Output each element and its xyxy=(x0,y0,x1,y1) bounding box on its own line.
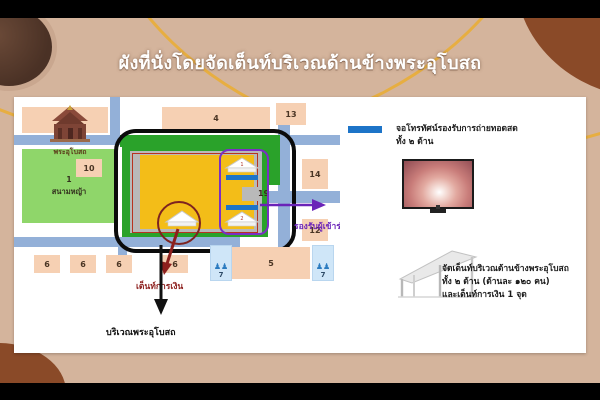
ubosot-building-icon xyxy=(38,105,102,145)
ubosot-area-annotation: บริเวณพระอุโบสถ xyxy=(106,325,176,339)
toilet-figures-icon: ♟♟ xyxy=(316,263,330,271)
tv-stand-base-icon xyxy=(430,209,446,213)
legend-item-tv: จอโทรทัศน์รองรับการถ่ายทอดสด ทั้ง ๒ ด้าน xyxy=(348,123,584,149)
map-lawn-label: สนามหญ้า xyxy=(22,187,116,196)
attendee-support-arrow xyxy=(260,195,332,215)
tv-screen-icon xyxy=(402,159,474,209)
map-building-13: 13 xyxy=(276,103,306,125)
content-card: กุฏิ 4 13 14 12 1 ส xyxy=(14,97,586,353)
legend-tv-line-1: จอโทรทัศน์รองรับการถ่ายทอดสด xyxy=(396,123,518,136)
map-toilet-right-number: 7 xyxy=(321,271,326,279)
map-building-14: 14 xyxy=(302,159,328,189)
legend-tv-line-2: ทั้ง ๒ ด้าน xyxy=(396,136,518,149)
tv-color-swatch-icon xyxy=(348,126,382,133)
slide-background: ผังที่นั่งโดยจัดเต็นท์บริเวณด้านข้างพระอ… xyxy=(0,18,600,383)
toilet-figures-icon: ♟♟ xyxy=(214,263,228,271)
legend-panel: จอโทรทัศน์รองรับการถ่ายทอดสด ทั้ง ๒ ด้าน xyxy=(340,97,586,353)
page-title: ผังที่นั่งโดยจัดเต็นท์บริเวณด้านข้างพระอ… xyxy=(0,48,600,77)
map-building-6-a: 6 xyxy=(34,255,60,273)
legend-tent-line-1: จัดเต็นท์บริเวณด้านข้างพระอุโบสถ xyxy=(442,263,569,276)
map-building-5: 5 xyxy=(232,247,310,279)
map-toilet-right: ♟♟ 7 xyxy=(312,245,334,281)
map-building-6-c: 6 xyxy=(106,255,132,273)
map-toilet-left: ♟♟ 7 xyxy=(210,245,232,281)
tent-zone-highlight-outline xyxy=(219,149,269,235)
ubosot-area-arrow xyxy=(152,245,170,319)
tv-screen-glow xyxy=(404,161,472,207)
legend-item-tent: จัดเต็นท์บริเวณด้านข้างพระอุโบสถ ทั้ง ๒ … xyxy=(392,263,588,303)
legend-tent-line-3: และเต็นท์การเงิน 1 จุด xyxy=(442,289,569,302)
map-toilet-left-number: 7 xyxy=(219,271,224,279)
seating-plan-map: กุฏิ 4 13 14 12 1 ส xyxy=(14,97,340,353)
map-building-6-b: 6 xyxy=(70,255,96,273)
slide-stage: ผังที่นั่งโดยจัดเต็นท์บริเวณด้านข้างพระอ… xyxy=(0,0,600,400)
map-building-10: 10 xyxy=(76,159,102,177)
ubosot-label: พระอุโบสถ xyxy=(28,147,112,158)
legend-tent-line-2: ทั้ง ๒ ด้าน (ด้านละ ๑๒๐ คน) xyxy=(442,276,569,289)
map-building-4: 4 xyxy=(162,107,270,129)
